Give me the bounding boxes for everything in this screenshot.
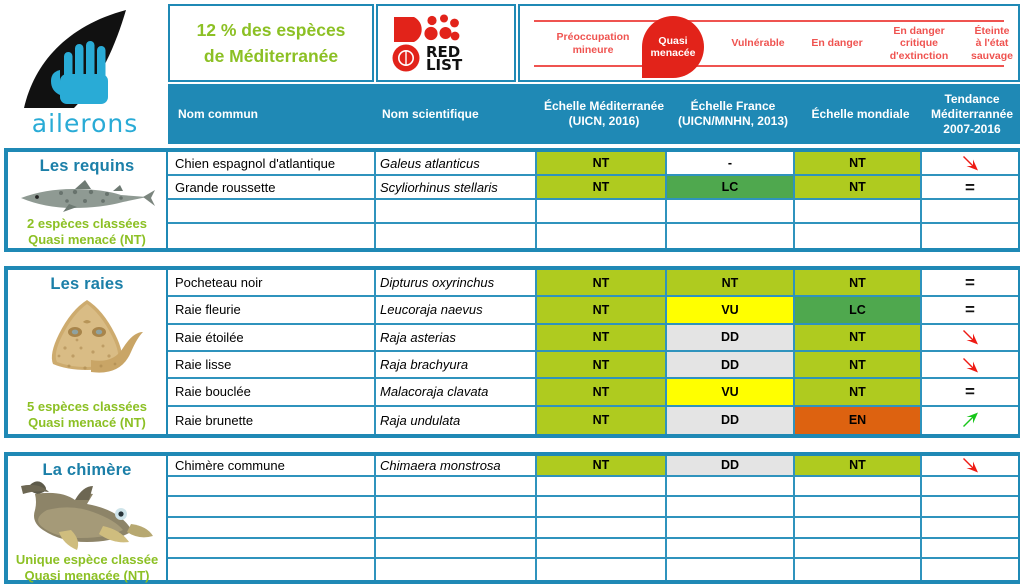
cell-med[interactable]: NT: [537, 270, 667, 297]
status-badge-fra: [667, 224, 793, 248]
table-row[interactable]: Raie brunette Raja undulata NT DD EN: [168, 407, 1018, 434]
section-note-line-1: Unique espèce classée: [8, 552, 166, 568]
status-badge-med: NT: [537, 407, 665, 434]
cell-mon[interactable]: [795, 477, 922, 498]
cell-nom-scientifique[interactable]: Raja undulata: [376, 407, 537, 434]
cell-nom-commun[interactable]: Raie brunette: [168, 407, 376, 434]
echelle-france-line-1: Échelle France: [678, 99, 788, 114]
cell-nom-scientifique[interactable]: Raja brachyura: [376, 352, 537, 379]
cell-nom-commun[interactable]: Grande roussette: [168, 176, 376, 200]
status-badge-med: NT: [537, 456, 665, 475]
cell-med[interactable]: NT: [537, 325, 667, 352]
cell-tendance[interactable]: [922, 559, 1018, 580]
status-badge-mon: [795, 497, 920, 516]
tendance-line-3: 2007-2016: [931, 122, 1013, 137]
echelle-mediterranee-line-1: Échelle Méditerranée: [544, 99, 664, 114]
cell-mon[interactable]: NT: [795, 379, 922, 406]
cell-fra[interactable]: VU: [667, 297, 795, 324]
status-badge-fra: [667, 477, 793, 496]
cell-tendance[interactable]: [922, 224, 1018, 248]
section-title: Les requins: [40, 157, 135, 176]
cell-fra[interactable]: DD: [667, 407, 795, 434]
cell-tendance[interactable]: [922, 352, 1018, 379]
logo-wordmark: ailerons: [4, 109, 166, 138]
quasi-line-2: menacée: [651, 47, 696, 59]
status-badge-fra: VU: [667, 379, 793, 404]
cell-tendance[interactable]: [922, 539, 1018, 560]
table-row[interactable]: [168, 539, 1018, 560]
status-badge-mon: [795, 559, 920, 580]
cell-nom-commun[interactable]: [168, 477, 376, 498]
table-row[interactable]: [168, 477, 1018, 498]
species-status-table-infographic: ailerons 12 % des espèces de Méditerrané…: [0, 0, 1024, 588]
cell-nom-scientifique[interactable]: [376, 559, 537, 580]
table-row[interactable]: Chimère commune Chimaera monstrosa NT DD…: [168, 456, 1018, 477]
tendance-line-1: Tendance: [931, 92, 1013, 107]
table-row[interactable]: Raie bouclée Malacoraja clavata NT VU NT…: [168, 379, 1018, 406]
cell-mon[interactable]: [795, 200, 922, 224]
table-row[interactable]: Raie étoilée Raja asterias NT DD NT: [168, 325, 1018, 352]
shark-illustration: [17, 176, 157, 216]
cell-med[interactable]: [537, 200, 667, 224]
status-badge-med: [537, 539, 665, 558]
cell-nom-scientifique[interactable]: [376, 497, 537, 518]
status-badge-fra: [667, 539, 793, 558]
empty-trend-cell: [922, 559, 1018, 580]
down-right-arrow-icon: [922, 325, 1018, 350]
section-illustration: [8, 294, 166, 399]
cell-fra[interactable]: [667, 224, 795, 248]
status-badge-fra: [667, 497, 793, 516]
cell-tendance[interactable]: [922, 200, 1018, 224]
cell-med[interactable]: [537, 559, 667, 580]
status-badge-fra: DD: [667, 407, 793, 434]
cell-tendance[interactable]: [922, 325, 1018, 352]
status-badge-mon: NT: [795, 270, 920, 295]
section-block-chimaera: La chimère Unique espèce classée Quasi m…: [4, 452, 1020, 584]
cell-mon[interactable]: EN: [795, 407, 922, 434]
ailerons-logo: ailerons: [4, 4, 166, 144]
status-badge-med: NT: [537, 270, 665, 295]
cell-nom-scientifique[interactable]: Raja asterias: [376, 325, 537, 352]
empty-trend-cell: [922, 539, 1018, 558]
status-badge-med: NT: [537, 176, 665, 198]
cell-nom-commun[interactable]: [168, 518, 376, 539]
section-note-line-2: Quasi menacé (NT): [8, 415, 166, 431]
section-rows-grid: Pocheteau noir Dipturus oxyrinchus NT NT…: [168, 270, 1018, 434]
column-header-tendance: Tendance Méditerrannée 2007-2016: [924, 84, 1020, 144]
scale-cat-en-danger-critique: En dangercritiqued'extinction: [876, 25, 962, 62]
cell-med[interactable]: NT: [537, 456, 667, 477]
cell-fra[interactable]: DD: [667, 456, 795, 477]
table-column-header-row: Nom commun Nom scientifique Échelle Médi…: [168, 84, 1020, 144]
section-note-line-1: 2 espèces classées: [8, 216, 166, 232]
status-badge-med: NT: [537, 152, 665, 174]
cell-fra[interactable]: VU: [667, 379, 795, 406]
cell-fra[interactable]: [667, 559, 795, 580]
section-block-rays: Les raies 5 espèces classées Quasi menac…: [4, 266, 1020, 438]
cell-nom-scientifique[interactable]: Leucoraja naevus: [376, 297, 537, 324]
cell-tendance[interactable]: =: [922, 297, 1018, 324]
cell-fra[interactable]: [667, 200, 795, 224]
cell-med[interactable]: NT: [537, 176, 667, 200]
cell-nom-commun[interactable]: [168, 559, 376, 580]
status-badge-mon: [795, 477, 920, 496]
status-badge-med: NT: [537, 297, 665, 322]
status-badge-fra: VU: [667, 297, 793, 322]
status-badge-mon: NT: [795, 379, 920, 404]
section-title: La chimère: [42, 461, 131, 480]
table-row[interactable]: Chien espagnol d'atlantique Galeus atlan…: [168, 152, 1018, 176]
status-badge-med: [537, 224, 665, 248]
status-badge-mon: NT: [795, 176, 920, 198]
cell-tendance[interactable]: =: [922, 270, 1018, 297]
up-right-arrow-icon: [922, 407, 1018, 434]
status-badge-fra: DD: [667, 352, 793, 377]
status-badge-med: NT: [537, 352, 665, 377]
section-illustration: [8, 480, 166, 552]
scale-cat-eteinte-etat-sauvage: Éteinteà l'étatsauvage: [962, 25, 1022, 62]
status-badge-fra: DD: [667, 325, 793, 350]
cell-med[interactable]: NT: [537, 152, 667, 176]
table-row[interactable]: Raie lisse Raja brachyura NT DD NT: [168, 352, 1018, 379]
cell-nom-scientifique[interactable]: Malacoraja clavata: [376, 379, 537, 406]
cell-nom-scientifique[interactable]: [376, 200, 537, 224]
percent-species-box: 12 % des espèces de Méditerranée: [168, 4, 374, 82]
cell-tendance[interactable]: =: [922, 176, 1018, 200]
cell-tendance[interactable]: [922, 497, 1018, 518]
section-rows-grid: Chien espagnol d'atlantique Galeus atlan…: [168, 152, 1018, 248]
cell-mon[interactable]: [795, 497, 922, 518]
column-header-echelle-mondiale: Échelle mondiale: [797, 84, 924, 144]
equals-sign-icon: =: [922, 176, 1018, 198]
cell-tendance[interactable]: [922, 152, 1018, 176]
cell-med[interactable]: NT: [537, 297, 667, 324]
cell-mon[interactable]: NT: [795, 152, 922, 176]
status-badge-fra: LC: [667, 176, 793, 198]
status-badge-mon: LC: [795, 297, 920, 322]
cell-fra[interactable]: NT: [667, 270, 795, 297]
equals-sign-icon: =: [922, 270, 1018, 295]
cell-med[interactable]: [537, 497, 667, 518]
section-note-line-1: 5 espèces classées: [8, 399, 166, 415]
cell-mon[interactable]: [795, 224, 922, 248]
empty-trend-cell: [922, 224, 1018, 248]
section-side-panel-rays: Les raies 5 espèces classées Quasi menac…: [8, 270, 168, 434]
column-header-nom-scientifique: Nom scientifique: [378, 84, 539, 144]
status-badge-med: [537, 497, 665, 516]
cell-nom-commun[interactable]: Pocheteau noir: [168, 270, 376, 297]
status-badge-mon: [795, 224, 920, 248]
scale-cat-preoccupation-mineure: Préoccupationmineure: [534, 31, 652, 56]
cell-nom-scientifique[interactable]: [376, 224, 537, 248]
cell-fra[interactable]: -: [667, 152, 795, 176]
status-badge-mon: [795, 539, 920, 558]
section-note: 2 espèces classées Quasi menacé (NT): [8, 216, 166, 249]
section-side-panel-chimaera: La chimère Unique espèce classée Quasi m…: [8, 456, 168, 580]
status-badge-fra: DD: [667, 456, 793, 475]
status-badge-mon: NT: [795, 456, 920, 475]
down-right-arrow-icon: [922, 352, 1018, 377]
column-header-nom-commun: Nom commun: [168, 84, 378, 144]
quasi-line-1: Quasi: [658, 35, 687, 47]
section-note: 5 espèces classées Quasi menacé (NT): [8, 399, 166, 432]
status-badge-med: NT: [537, 325, 665, 350]
ray-illustration: [25, 294, 149, 394]
cell-med[interactable]: NT: [537, 352, 667, 379]
section-note-line-2: Quasi menacé (NT): [8, 232, 166, 248]
status-badge-mon: [795, 518, 920, 537]
quasi-menacee-label: Quasi menacée: [642, 16, 704, 78]
cell-mon[interactable]: NT: [795, 325, 922, 352]
section-note: Unique espèce classée Quasi menacée (NT): [8, 552, 166, 585]
cell-med[interactable]: [537, 539, 667, 560]
section-note-line-2: Quasi menacée (NT): [8, 568, 166, 584]
status-badge-mon: [795, 200, 920, 222]
cell-mon[interactable]: NT: [795, 176, 922, 200]
cell-nom-commun[interactable]: Raie fleurie: [168, 297, 376, 324]
section-title: Les raies: [50, 275, 123, 294]
cell-nom-commun[interactable]: Chimère commune: [168, 456, 376, 477]
cell-mon[interactable]: [795, 559, 922, 580]
scale-cat-vulnerable: Vulnérable: [718, 37, 798, 49]
cell-nom-commun[interactable]: [168, 497, 376, 518]
status-badge-fra: [667, 518, 793, 537]
column-header-echelle-france: Échelle France (UICN/MNHN, 2013): [669, 84, 797, 144]
cell-med[interactable]: [537, 518, 667, 539]
redlist-text-list: LIST: [426, 56, 463, 72]
table-row[interactable]: Pocheteau noir Dipturus oxyrinchus NT NT…: [168, 270, 1018, 297]
cell-nom-commun[interactable]: Chien espagnol d'atlantique: [168, 152, 376, 176]
column-header-echelle-mediterranee: Échelle Méditerranée (UICN, 2016): [539, 84, 669, 144]
scale-bottom-rule: [534, 65, 1004, 67]
cell-tendance[interactable]: [922, 477, 1018, 498]
status-badge-mon: NT: [795, 152, 920, 174]
cell-med[interactable]: NT: [537, 407, 667, 434]
cell-nom-commun[interactable]: Raie étoilée: [168, 325, 376, 352]
redlist-category-scale: Quasi menacée Préoccupationmineure Vulné…: [518, 4, 1020, 82]
empty-trend-cell: [922, 497, 1018, 516]
tendance-line-2: Méditerrannée: [931, 107, 1013, 122]
cell-nom-scientifique[interactable]: [376, 518, 537, 539]
equals-sign-icon: =: [922, 297, 1018, 322]
section-side-panel-sharks: Les requins 2 espèces classées Quasi men…: [8, 152, 168, 248]
cell-nom-scientifique[interactable]: Galeus atlanticus: [376, 152, 537, 176]
cell-fra[interactable]: LC: [667, 176, 795, 200]
cell-fra[interactable]: [667, 497, 795, 518]
status-badge-mon: NT: [795, 352, 920, 377]
cell-fra[interactable]: [667, 477, 795, 498]
status-badge-med: [537, 200, 665, 222]
cell-mon[interactable]: [795, 518, 922, 539]
empty-trend-cell: [922, 200, 1018, 222]
status-badge-fra: NT: [667, 270, 793, 295]
cell-med[interactable]: NT: [537, 379, 667, 406]
cell-mon[interactable]: [795, 539, 922, 560]
cell-nom-scientifique[interactable]: Chimaera monstrosa: [376, 456, 537, 477]
table-row[interactable]: [168, 518, 1018, 539]
cell-tendance[interactable]: [922, 518, 1018, 539]
cell-nom-commun[interactable]: [168, 224, 376, 248]
down-right-arrow-icon: [922, 152, 1018, 174]
status-badge-fra: -: [667, 152, 793, 174]
echelle-mediterranee-line-2: (UICN, 2016): [544, 114, 664, 129]
iucn-redlist-icon: RED LIST: [390, 14, 502, 72]
table-row[interactable]: Raie fleurie Leucoraja naevus NT VU LC =: [168, 297, 1018, 324]
cell-fra[interactable]: DD: [667, 352, 795, 379]
cell-nom-commun[interactable]: Raie lisse: [168, 352, 376, 379]
status-badge-mon: NT: [795, 325, 920, 350]
status-badge-med: [537, 559, 665, 580]
cell-nom-commun[interactable]: Raie bouclée: [168, 379, 376, 406]
status-badge-fra: [667, 200, 793, 222]
table-row[interactable]: [168, 559, 1018, 580]
cell-mon[interactable]: NT: [795, 352, 922, 379]
cell-mon[interactable]: NT: [795, 270, 922, 297]
empty-trend-cell: [922, 477, 1018, 496]
status-badge-med: [537, 477, 665, 496]
percent-line-1: 12 % des espèces: [197, 17, 346, 43]
status-badge-med: [537, 518, 665, 537]
scale-cat-en-danger: En danger: [798, 37, 876, 49]
down-right-arrow-icon: [922, 456, 1018, 475]
section-illustration: [8, 176, 166, 216]
status-badge-fra: [667, 559, 793, 580]
cell-nom-scientifique[interactable]: [376, 477, 537, 498]
cell-med[interactable]: [537, 477, 667, 498]
percent-line-2: de Méditerranée: [204, 43, 338, 69]
cell-tendance[interactable]: =: [922, 379, 1018, 406]
table-row[interactable]: [168, 200, 1018, 224]
redlist-logo-box: RED LIST: [376, 4, 516, 82]
empty-trend-cell: [922, 518, 1018, 537]
cell-med[interactable]: [537, 224, 667, 248]
cell-mon[interactable]: NT: [795, 456, 922, 477]
shark-fin-hand-icon: [4, 4, 166, 116]
section-block-sharks: Les requins 2 espèces classées Quasi men…: [4, 148, 1020, 252]
section-rows-grid: Chimère commune Chimaera monstrosa NT DD…: [168, 456, 1018, 580]
equals-sign-icon: =: [922, 379, 1018, 404]
chimaera-illustration: [17, 480, 157, 552]
cell-fra[interactable]: [667, 539, 795, 560]
table-row[interactable]: Grande roussette Scyliorhinus stellaris …: [168, 176, 1018, 200]
echelle-france-line-2: (UICN/MNHN, 2013): [678, 114, 788, 129]
cell-tendance[interactable]: [922, 407, 1018, 434]
table-row[interactable]: [168, 224, 1018, 248]
cell-fra[interactable]: DD: [667, 325, 795, 352]
cell-mon[interactable]: LC: [795, 297, 922, 324]
cell-nom-commun[interactable]: [168, 200, 376, 224]
status-badge-med: NT: [537, 379, 665, 404]
cell-fra[interactable]: [667, 518, 795, 539]
cell-nom-scientifique[interactable]: [376, 539, 537, 560]
cell-nom-commun[interactable]: [168, 539, 376, 560]
cell-nom-scientifique[interactable]: Dipturus oxyrinchus: [376, 270, 537, 297]
table-row[interactable]: [168, 497, 1018, 518]
cell-tendance[interactable]: [922, 456, 1018, 477]
cell-nom-scientifique[interactable]: Scyliorhinus stellaris: [376, 176, 537, 200]
status-badge-mon: EN: [795, 407, 920, 434]
